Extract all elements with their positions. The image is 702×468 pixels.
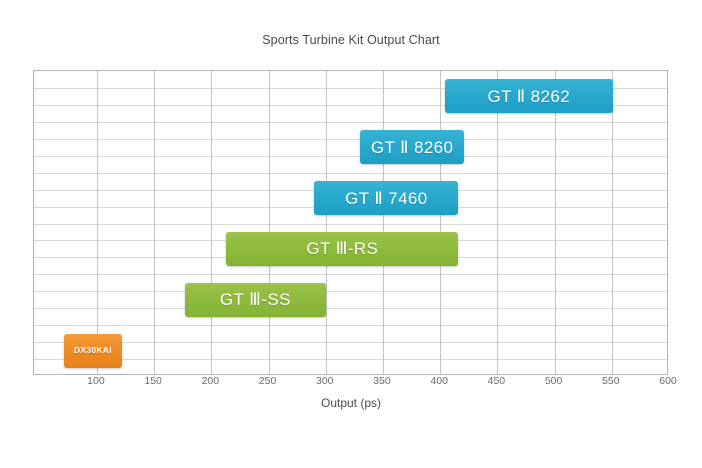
gridline-horizontal bbox=[34, 359, 667, 360]
bar[interactable]: GT Ⅱ 7460 bbox=[314, 181, 458, 215]
bar[interactable]: GT Ⅱ 8262 bbox=[445, 79, 613, 113]
gridline-horizontal bbox=[34, 291, 667, 292]
bar[interactable]: GT Ⅱ 8260 bbox=[360, 130, 464, 164]
bar-label: GT Ⅱ 8260 bbox=[371, 139, 454, 156]
gridline-vertical bbox=[440, 71, 441, 374]
bar-label: GT Ⅱ 7460 bbox=[345, 190, 428, 207]
bar[interactable]: DX30KAI bbox=[64, 334, 122, 368]
x-tick-label: 350 bbox=[373, 375, 391, 387]
gridline-horizontal bbox=[34, 173, 667, 174]
bar[interactable]: GT Ⅲ-SS bbox=[185, 283, 326, 317]
x-tick-label: 150 bbox=[144, 375, 162, 387]
x-tick-label: 250 bbox=[259, 375, 277, 387]
plot-area: GT Ⅱ 8262GT Ⅱ 8260GT Ⅱ 7460GT Ⅲ-RSGT Ⅲ-S… bbox=[33, 70, 668, 375]
x-tick-label: 300 bbox=[316, 375, 334, 387]
bar-label: GT Ⅱ 8262 bbox=[488, 88, 571, 105]
x-tick-label: 200 bbox=[202, 375, 220, 387]
bar-label: DX30KAI bbox=[74, 346, 112, 355]
gridline-horizontal bbox=[34, 156, 667, 157]
gridline-vertical bbox=[497, 71, 498, 374]
x-axis-tick-labels: 100150200250300350400450500550600 bbox=[33, 375, 668, 391]
gridline-vertical bbox=[555, 71, 556, 374]
bar[interactable]: GT Ⅲ-RS bbox=[226, 232, 458, 266]
gridline-horizontal bbox=[34, 308, 667, 309]
gridline-horizontal bbox=[34, 139, 667, 140]
bar-label: GT Ⅲ-RS bbox=[306, 240, 378, 257]
gridline-horizontal bbox=[34, 224, 667, 225]
gridline-vertical bbox=[154, 71, 155, 374]
x-tick-label: 550 bbox=[602, 375, 620, 387]
gridline-horizontal bbox=[34, 274, 667, 275]
chart-title: Sports Turbine Kit Output Chart bbox=[0, 33, 702, 47]
gridline-horizontal bbox=[34, 122, 667, 123]
gridline-horizontal bbox=[34, 325, 667, 326]
x-tick-label: 400 bbox=[430, 375, 448, 387]
gridline-vertical bbox=[383, 71, 384, 374]
x-tick-label: 500 bbox=[545, 375, 563, 387]
gridline-vertical bbox=[612, 71, 613, 374]
chart-container: Sports Turbine Kit Output Chart GT Ⅱ 826… bbox=[0, 0, 702, 468]
x-tick-label: 450 bbox=[488, 375, 506, 387]
x-tick-label: 600 bbox=[659, 375, 677, 387]
x-tick-label: 100 bbox=[87, 375, 105, 387]
gridline-vertical bbox=[211, 71, 212, 374]
bar-label: GT Ⅲ-SS bbox=[220, 291, 291, 308]
gridline-horizontal bbox=[34, 342, 667, 343]
x-axis-label: Output (ps) bbox=[0, 396, 702, 410]
gridline-vertical bbox=[269, 71, 270, 374]
gridline-vertical bbox=[97, 71, 98, 374]
gridline-vertical bbox=[326, 71, 327, 374]
